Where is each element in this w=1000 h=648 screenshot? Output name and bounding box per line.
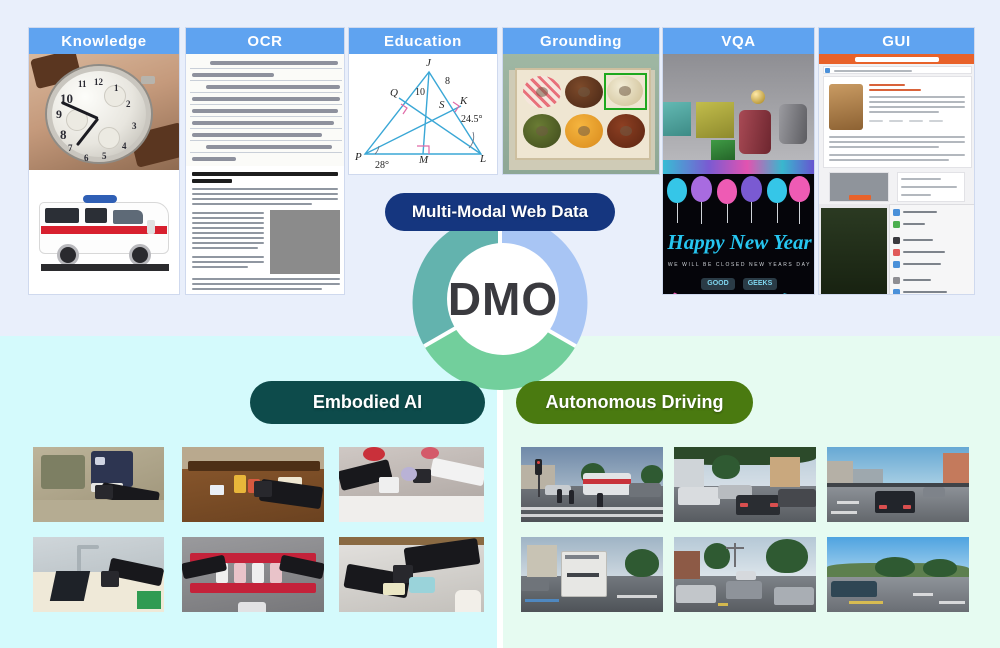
category-media-education: J Q K S P M L 8 10 24.5° 28° bbox=[349, 54, 497, 174]
poster-chip-good: GOOD bbox=[701, 278, 735, 290]
category-title-ocr: OCR bbox=[186, 28, 344, 54]
clevr-shapes-render bbox=[663, 54, 815, 174]
lead-vehicle bbox=[875, 491, 915, 513]
category-title-education: Education bbox=[349, 28, 497, 54]
donut-glazed bbox=[565, 114, 603, 148]
city-bus bbox=[583, 473, 631, 495]
category-panel-grounding[interactable]: Grounding bbox=[502, 27, 660, 175]
geo-vertex-L: L bbox=[480, 153, 486, 165]
shape-olive-cube bbox=[696, 102, 734, 138]
embodied-thumb-robot-arm-sofa-cushion[interactable] bbox=[33, 447, 164, 522]
embodied-thumb-kitchen-sink[interactable] bbox=[33, 537, 164, 612]
donut-sprinkles bbox=[607, 114, 645, 148]
settings-row-internet-accounts[interactable] bbox=[891, 288, 973, 295]
driving-thumb-residential-street[interactable] bbox=[674, 537, 816, 612]
shape-gold-sphere bbox=[751, 90, 765, 104]
venn-diagram: DMO bbox=[385, 215, 615, 390]
donut-chocolate bbox=[565, 76, 603, 108]
embodied-thumb-cup-rack[interactable] bbox=[182, 537, 324, 612]
geometry-triangle-diagram: J Q K S P M L 8 10 24.5° 28° bbox=[349, 54, 497, 174]
driving-thumb-open-highway[interactable] bbox=[827, 537, 969, 612]
category-panel-vqa[interactable]: VQA bbox=[662, 27, 815, 295]
category-media-ocr bbox=[186, 54, 344, 294]
pill-autonomous-driving[interactable]: Autonomous Driving bbox=[516, 381, 753, 424]
shape-gray-cylinder bbox=[779, 104, 807, 144]
category-media-grounding bbox=[503, 54, 659, 174]
settings-row-battery[interactable] bbox=[891, 220, 973, 229]
category-media-knowledge: 12 2 3 4 5 6 7 8 9 10 11 1 bbox=[29, 54, 179, 294]
geo-measure-8: 8 bbox=[445, 76, 450, 87]
category-media-vqa: Happy New Year WE WILL BE CLOSED NEW YEA… bbox=[663, 54, 814, 294]
poster-subtitle: WE WILL BE CLOSED NEW YEARS DAY bbox=[663, 262, 815, 268]
driving-thumb-tree-lined-parked-cars[interactable] bbox=[674, 447, 816, 522]
happy-new-year-poster: Happy New Year WE WILL BE CLOSED NEW YEA… bbox=[663, 174, 815, 295]
settings-row-lock-screen[interactable] bbox=[891, 236, 973, 245]
donut-strawberry bbox=[523, 76, 561, 108]
category-title-grounding: Grounding bbox=[503, 28, 659, 54]
driving-thumb-box-truck-ahead[interactable] bbox=[521, 537, 663, 612]
pill-embodied-ai[interactable]: Embodied AI bbox=[250, 381, 485, 424]
geo-vertex-Q: Q bbox=[390, 87, 398, 99]
category-panel-ocr[interactable]: OCR bbox=[185, 27, 345, 295]
category-panel-knowledge[interactable]: Knowledge 12 2 3 4 5 6 7 8 bbox=[28, 27, 180, 295]
geo-vertex-K: K bbox=[460, 95, 467, 107]
pill-multimodal-web-data[interactable]: Multi-Modal Web Data bbox=[385, 193, 615, 231]
driving-thumb-intersection-bus-pedestrians[interactable] bbox=[521, 447, 663, 522]
geo-vertex-S: S bbox=[439, 99, 445, 111]
bounding-box-annotation bbox=[604, 73, 647, 110]
macos-settings-screenshot bbox=[819, 204, 975, 295]
poster-canvas: Knowledge 12 2 3 4 5 6 7 8 bbox=[0, 0, 1000, 648]
pill-driving-label: Autonomous Driving bbox=[546, 392, 724, 413]
geo-vertex-J: J bbox=[426, 57, 431, 69]
handwritten-essay-scan bbox=[186, 54, 345, 166]
web-browser-screenshot bbox=[819, 54, 975, 204]
geo-measure-24p5: 24.5° bbox=[461, 114, 483, 125]
pill-web-label: Multi-Modal Web Data bbox=[412, 202, 588, 222]
driving-thumb-urban-boulevard[interactable] bbox=[827, 447, 969, 522]
geo-vertex-M: M bbox=[419, 154, 428, 166]
shape-green-cube bbox=[711, 140, 735, 162]
news-article-scan bbox=[186, 166, 345, 295]
donut-pistachio bbox=[523, 114, 561, 148]
settings-row-screen-saver[interactable] bbox=[891, 208, 973, 217]
pill-embodied-label: Embodied AI bbox=[313, 392, 422, 413]
settings-row-passwords[interactable] bbox=[891, 276, 973, 285]
settings-row-touch-id[interactable] bbox=[891, 248, 973, 257]
geo-measure-28: 28° bbox=[375, 160, 389, 171]
category-title-vqa: VQA bbox=[663, 28, 814, 54]
embodied-thumb-dual-arm-flowers[interactable] bbox=[339, 447, 484, 522]
embodied-thumb-desk-objects[interactable] bbox=[339, 537, 484, 612]
wristwatch-photo: 12 2 3 4 5 6 7 8 9 10 11 1 bbox=[29, 54, 180, 170]
dmo-label: DMO bbox=[448, 272, 558, 326]
settings-row-users-groups[interactable] bbox=[891, 260, 973, 269]
embodied-thumb-robot-arm-coffee-table[interactable] bbox=[182, 447, 324, 522]
category-title-gui: GUI bbox=[819, 28, 974, 54]
venn-center-label: DMO bbox=[447, 243, 559, 355]
category-title-knowledge: Knowledge bbox=[29, 28, 179, 54]
category-media-gui bbox=[819, 54, 974, 294]
shape-teal-cube bbox=[663, 102, 691, 136]
category-panel-gui[interactable]: GUI bbox=[818, 27, 975, 295]
poster-chip-geeks: GEEKS bbox=[743, 278, 777, 290]
geo-vertex-P: P bbox=[355, 151, 362, 163]
ambulance-photo bbox=[29, 170, 180, 295]
shape-maroon-cylinder bbox=[739, 110, 771, 154]
category-panel-education[interactable]: Education bbox=[348, 27, 498, 175]
geo-measure-10: 10 bbox=[415, 87, 425, 98]
donut-box-photo-with-bbox bbox=[503, 54, 659, 174]
poster-title: Happy New Year bbox=[663, 230, 815, 255]
